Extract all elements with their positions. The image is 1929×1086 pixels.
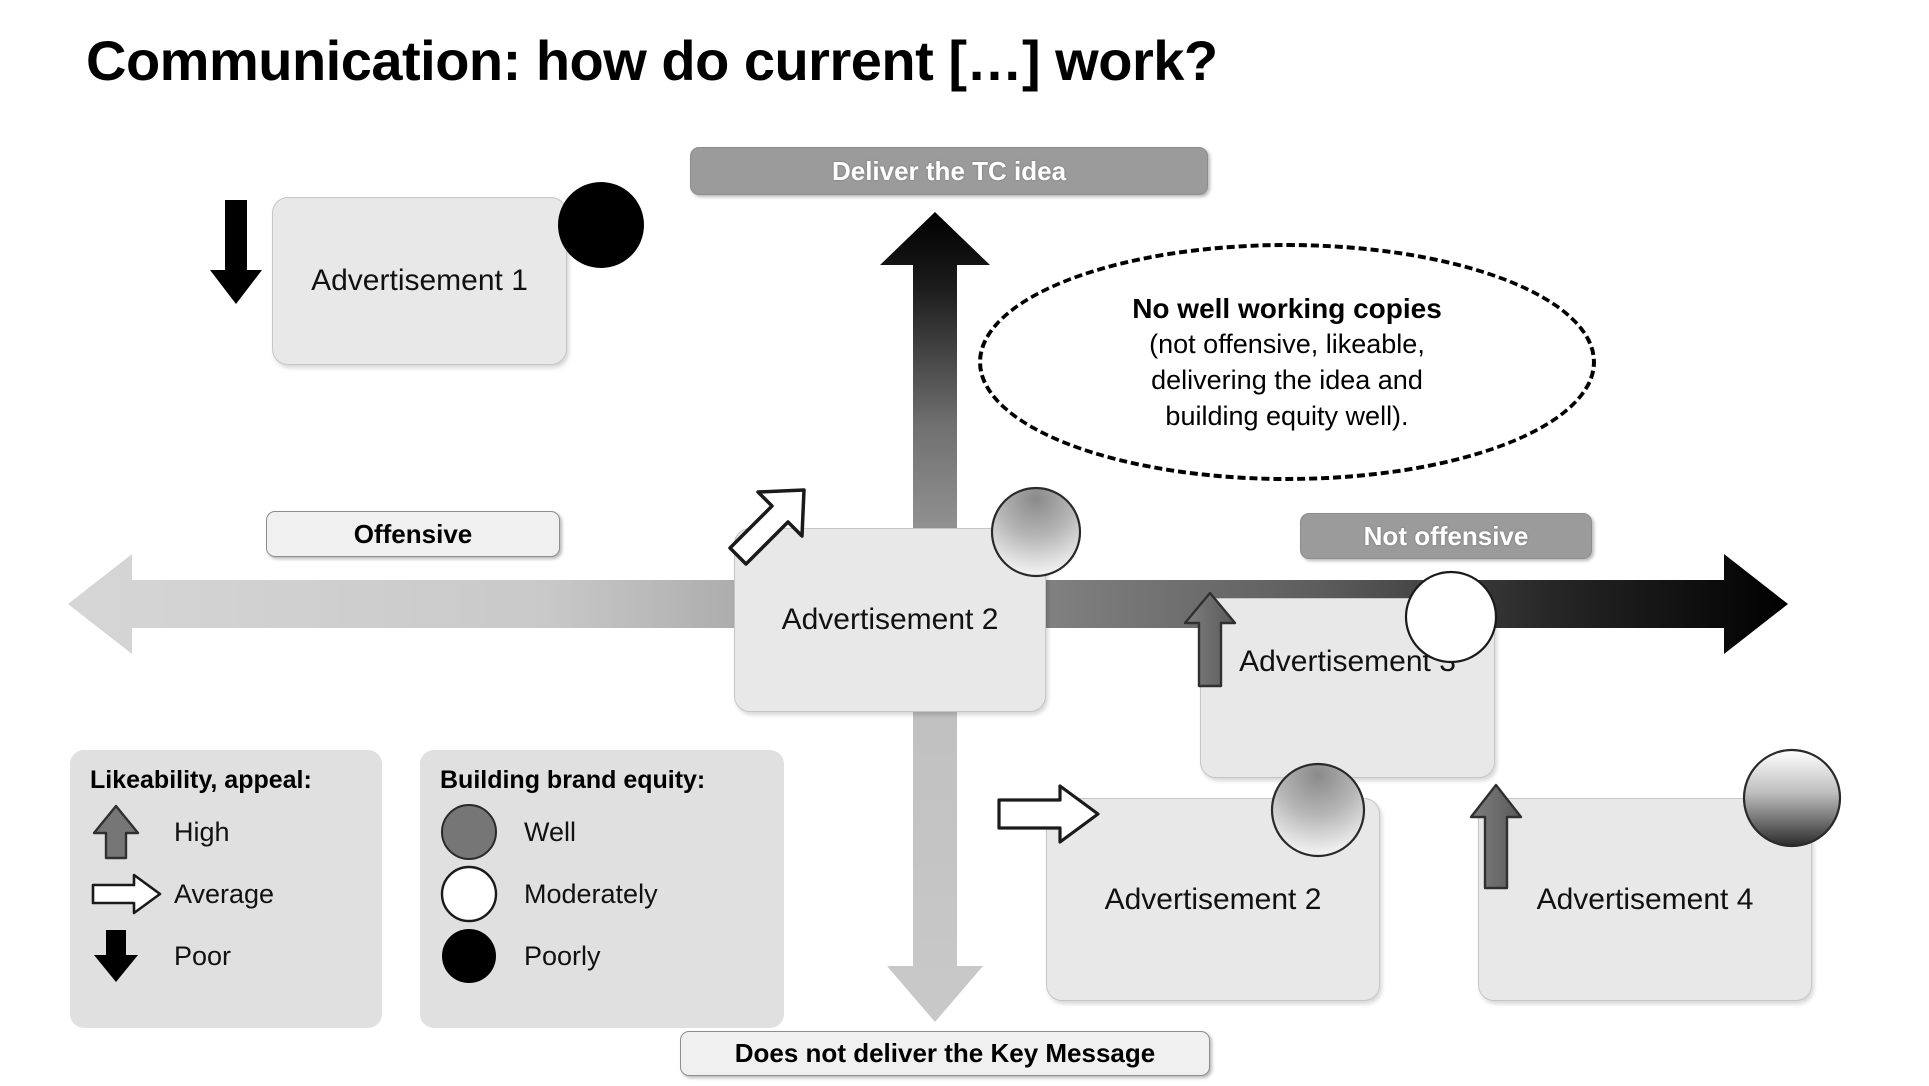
arrow-right-white-icon [90,872,164,916]
note-line-1: (not offensive, likeable, [1149,327,1425,363]
axis-label-top-text: Deliver the TC idea [832,156,1066,187]
legend-item-well-label: Well [524,817,576,848]
appeal-arrow-down-advertisement-1 [206,198,266,308]
equity-circle-gradient-advertisement-2-center [990,486,1082,578]
legend-item-high: High [90,801,362,863]
note-line-2: delivering the idea and [1151,363,1423,399]
equity-circle-white-advertisement-3 [1404,570,1498,664]
legend-item-poorly: Poorly [440,925,764,987]
axis-label-right-text: Not offensive [1364,521,1529,552]
legend-brand-equity-title: Building brand equity: [440,766,764,795]
legend-likeability: Likeability, appeal: High Average [70,750,382,1028]
appeal-arrow-up-advertisement-4 [1468,782,1524,892]
equity-circle-black-advertisement-1 [556,180,646,270]
axis-label-top: Deliver the TC idea [690,147,1208,195]
axis-label-right: Not offensive [1300,513,1592,559]
legend-item-poorly-label: Poorly [524,941,601,972]
arrow-down-black-icon [90,927,164,985]
legend-item-moderately: Moderately [440,863,764,925]
diagram-canvas: Communication: how do current […] work? [0,0,1929,1086]
card-advertisement-2-bottom-label: Advertisement 2 [1105,883,1322,917]
axis-label-bottom-text: Does not deliver the Key Message [735,1038,1155,1069]
legend-item-poor: Poor [90,925,362,987]
no-well-working-copies-note: No well working copies (not offensive, l… [978,243,1596,481]
legend-item-high-label: High [174,817,230,848]
legend-likeability-title: Likeability, appeal: [90,766,362,795]
note-line-3: building equity well). [1165,399,1408,435]
axis-label-left: Offensive [266,511,560,557]
circle-black-icon [440,927,514,985]
circle-gray-icon [440,803,514,861]
legend-item-moderately-label: Moderately [524,879,658,910]
equity-circle-gradient-advertisement-2-bottom [1270,762,1366,858]
appeal-arrow-diagonal-advertisement-2-center [712,482,812,582]
legend-item-poor-label: Poor [174,941,231,972]
arrow-up-gray-icon [90,803,164,861]
appeal-arrow-up-advertisement-3 [1182,590,1238,690]
legend-item-well: Well [440,801,764,863]
card-advertisement-1[interactable]: Advertisement 1 [272,197,567,365]
equity-circle-gradient-advertisement-4 [1742,748,1842,848]
legend-item-average: Average [90,863,362,925]
axis-label-bottom: Does not deliver the Key Message [680,1031,1210,1076]
appeal-arrow-right-advertisement-2-bottom [996,782,1102,846]
note-heading: No well working copies [1132,290,1442,327]
legend-brand-equity: Building brand equity: Well Moderately [420,750,784,1028]
card-advertisement-2-center-label: Advertisement 2 [782,603,999,637]
legend-item-average-label: Average [174,879,274,910]
circle-white-icon [440,865,514,923]
axis-label-left-text: Offensive [354,519,473,550]
card-advertisement-4-label: Advertisement 4 [1537,883,1754,917]
card-advertisement-1-label: Advertisement 1 [311,264,528,298]
